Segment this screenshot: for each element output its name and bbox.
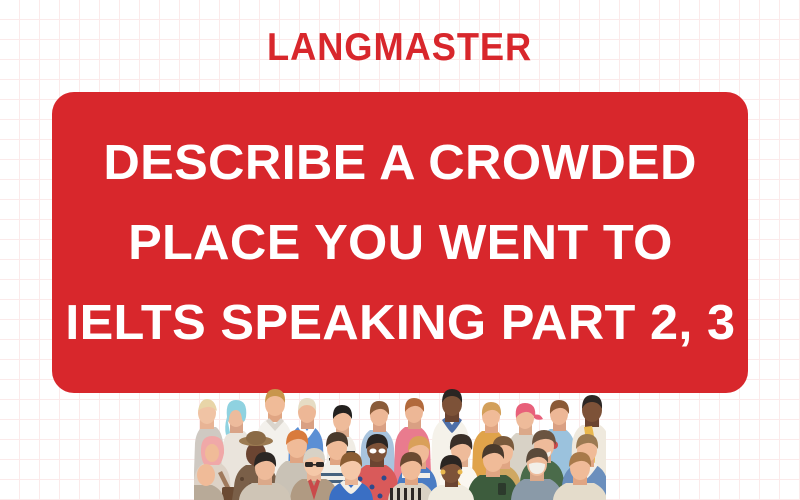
- headline-text-block: DESCRIBE A CROWDED PLACE YOU WENT TO IEL…: [52, 92, 748, 393]
- headline-line-1: DESCRIBE A CROWDED: [103, 123, 696, 203]
- brand-logo-text: LANGMASTER: [267, 28, 532, 67]
- headline-card: DESCRIBE A CROWDED PLACE YOU WENT TO IEL…: [52, 92, 748, 393]
- headline-line-3: IELTS SPEAKING PART 2, 3: [65, 283, 735, 363]
- crowd-illustration: [194, 375, 606, 500]
- headline-line-2: PLACE YOU WENT TO: [128, 203, 673, 283]
- crowd-illustration-svg: [194, 375, 606, 500]
- brand-logo: LANGMASTER: [0, 28, 800, 67]
- poster-canvas: LANGMASTER DESCRIBE A CROWDED PLACE YOU …: [0, 0, 800, 500]
